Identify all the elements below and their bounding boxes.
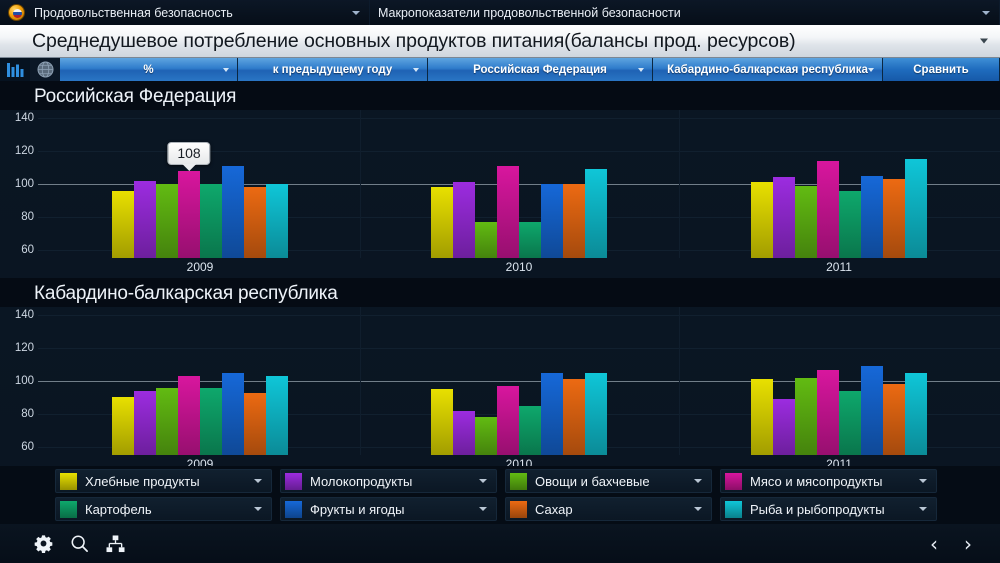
tab-food-security[interactable]: Продовольственная безопасность	[0, 0, 370, 25]
chart-title: Российская Федерация	[0, 81, 1000, 110]
chart-bar[interactable]	[541, 373, 563, 455]
chart-legend: Хлебные продуктыМолокопродуктыОвощи и ба…	[0, 466, 1000, 524]
chart-bar[interactable]	[585, 373, 607, 455]
chart-bar[interactable]	[839, 391, 861, 455]
legend-item-1[interactable]: Молокопродукты	[280, 469, 497, 493]
chart-bar[interactable]	[222, 166, 244, 258]
gridline	[38, 348, 1000, 349]
nav-next-button[interactable]: ›	[964, 534, 972, 554]
chart-bar[interactable]	[817, 161, 839, 258]
chart-bar[interactable]	[475, 417, 497, 455]
filter-unit-label: %	[143, 64, 153, 76]
chart-bar[interactable]	[839, 191, 861, 258]
chart-plot-area[interactable]: 6080100120140108	[0, 110, 1000, 258]
y-axis-tick-label: 80	[0, 211, 34, 223]
chart-bar[interactable]	[541, 184, 563, 258]
app-emblem-icon	[8, 4, 25, 21]
y-axis-tick-label: 80	[0, 408, 34, 420]
chevron-down-icon[interactable]	[694, 479, 702, 483]
chevron-down-icon[interactable]	[982, 11, 990, 15]
legend-color-swatch	[285, 501, 302, 518]
legend-item-label: Картофель	[85, 502, 152, 517]
legend-item-label: Молокопродукты	[310, 474, 412, 489]
y-axis-tick-label: 120	[0, 145, 34, 157]
chevron-down-icon[interactable]	[479, 479, 487, 483]
group-separator	[679, 307, 680, 455]
legend-item-2[interactable]: Овощи и бахчевые	[505, 469, 712, 493]
filter-comparison-label: к предыдущему году	[273, 64, 393, 76]
chevron-down-icon[interactable]	[919, 479, 927, 483]
filter-region-primary[interactable]: Российская Федерация	[428, 58, 653, 81]
chart-panel-kbr: Кабардино-балкарская республика 60801001…	[0, 278, 1000, 475]
filter-unit[interactable]: %	[60, 58, 238, 81]
chart-plot-area[interactable]: 6080100120140	[0, 307, 1000, 455]
chart-bar[interactable]	[563, 184, 585, 258]
chart-bar[interactable]	[861, 176, 883, 258]
legend-item-5[interactable]: Фрукты и ягоды	[280, 497, 497, 521]
chevron-down-icon[interactable]	[694, 507, 702, 511]
chart-bar[interactable]	[773, 399, 795, 455]
tab-label: Макропоказатели продовольственной безопа…	[378, 6, 681, 20]
chart-panel-russia: Российская Федерация 6080100120140108 20…	[0, 81, 1000, 278]
compare-button-label: Сравнить	[913, 64, 969, 76]
chart-bar[interactable]	[134, 181, 156, 258]
chevron-down-icon[interactable]	[254, 479, 262, 483]
legend-color-swatch	[510, 501, 527, 518]
chart-bar[interactable]	[200, 184, 222, 258]
bar-value-tooltip: 108	[167, 142, 210, 165]
chart-bar[interactable]	[861, 366, 883, 455]
chevron-down-icon[interactable]	[919, 507, 927, 511]
filter-region-primary-label: Российская Федерация	[473, 64, 607, 76]
legend-color-swatch	[285, 473, 302, 490]
gridline	[38, 118, 1000, 119]
y-axis-tick-label: 140	[0, 112, 34, 124]
legend-item-label: Фрукты и ягоды	[310, 502, 404, 517]
filter-toolbar: % к предыдущему году Российская Федераци…	[0, 58, 1000, 81]
tab-macro-indicators[interactable]: Макропоказатели продовольственной безопа…	[370, 0, 1000, 25]
legend-color-swatch	[725, 501, 742, 518]
legend-item-label: Мясо и мясопродукты	[750, 474, 883, 489]
chart-bar[interactable]	[773, 177, 795, 258]
chart-bar[interactable]	[751, 182, 773, 258]
chart-title: Кабардино-балкарская республика	[0, 278, 1000, 307]
nav-prev-button[interactable]: ‹	[930, 534, 938, 554]
compare-button[interactable]: Сравнить	[883, 58, 1000, 81]
group-separator	[679, 110, 680, 258]
y-axis-tick-label: 100	[0, 178, 34, 190]
chart-bar[interactable]	[200, 388, 222, 455]
top-tab-bar: Продовольственная безопасность Макропока…	[0, 0, 1000, 25]
group-separator	[360, 110, 361, 258]
bottom-toolbar: ‹ ›	[0, 524, 1000, 563]
x-axis-tick-label: 2011	[826, 260, 852, 274]
chart-bar[interactable]	[244, 187, 266, 258]
chart-bar[interactable]	[751, 379, 773, 455]
chart-bar[interactable]	[431, 187, 453, 258]
legend-item-3[interactable]: Мясо и мясопродукты	[720, 469, 937, 493]
page-title: Среднедушевое потребление основных проду…	[32, 30, 796, 53]
legend-item-label: Сахар	[535, 502, 573, 517]
chart-bar[interactable]	[563, 379, 585, 455]
legend-color-swatch	[510, 473, 527, 490]
filter-comparison-base[interactable]: к предыдущему году	[238, 58, 428, 81]
chart-bar[interactable]	[222, 373, 244, 455]
chart-bar[interactable]	[453, 182, 475, 258]
chart-bar[interactable]	[497, 166, 519, 258]
chevron-down-icon[interactable]	[254, 507, 262, 511]
tab-label: Продовольственная безопасность	[34, 6, 233, 20]
chart-bar[interactable]	[266, 184, 288, 258]
legend-item-0[interactable]: Хлебные продукты	[55, 469, 272, 493]
chart-bar[interactable]	[453, 411, 475, 455]
y-axis-tick-label: 120	[0, 342, 34, 354]
hierarchy-icon[interactable]	[106, 535, 125, 553]
chart-bar[interactable]	[475, 222, 497, 258]
chevron-down-icon[interactable]	[980, 39, 988, 44]
chart-bar[interactable]	[905, 159, 927, 258]
filter-region-secondary-label: Кабардино-балкарская республика	[667, 64, 868, 76]
legend-item-6[interactable]: Сахар	[505, 497, 712, 521]
chart-bar[interactable]	[178, 171, 200, 258]
chevron-down-icon[interactable]	[479, 507, 487, 511]
search-icon[interactable]	[70, 534, 89, 553]
chart-bar[interactable]	[795, 186, 817, 258]
chart-bar[interactable]	[134, 391, 156, 455]
chart-bar[interactable]	[178, 376, 200, 455]
chevron-down-icon[interactable]	[223, 68, 229, 72]
application-window: Продовольственная безопасность Макропока…	[0, 0, 1000, 563]
chart-bar[interactable]	[905, 373, 927, 455]
legend-item-4[interactable]: Картофель	[55, 497, 272, 521]
legend-item-label: Овощи и бахчевые	[535, 474, 650, 489]
chart-bar[interactable]	[497, 386, 519, 455]
chart-bar[interactable]	[519, 222, 541, 258]
chart-bar[interactable]	[585, 169, 607, 258]
legend-color-swatch	[725, 473, 742, 490]
chart-bar[interactable]	[112, 397, 134, 455]
chevron-down-icon[interactable]	[413, 68, 419, 72]
x-axis-tick-label: 2010	[506, 260, 533, 274]
chart-bar[interactable]	[156, 184, 178, 258]
y-axis-tick-label: 60	[0, 244, 34, 256]
gear-icon[interactable]	[34, 534, 53, 553]
filter-region-secondary[interactable]: Кабардино-балкарская республика	[653, 58, 883, 81]
chart-bar[interactable]	[795, 378, 817, 455]
legend-item-label: Хлебные продукты	[85, 474, 200, 489]
y-axis-tick-label: 60	[0, 441, 34, 453]
chevron-down-icon[interactable]	[868, 68, 874, 72]
chart-bar[interactable]	[883, 384, 905, 455]
x-axis-tick-label: 2009	[187, 260, 214, 274]
chart-bar[interactable]	[266, 376, 288, 455]
chevron-down-icon[interactable]	[352, 11, 360, 15]
group-separator	[360, 307, 361, 455]
gridline	[38, 315, 1000, 316]
chart-bar[interactable]	[431, 389, 453, 455]
legend-color-swatch	[60, 501, 77, 518]
chart-bar[interactable]	[156, 388, 178, 455]
chart-bar[interactable]	[244, 393, 266, 455]
legend-item-7[interactable]: Рыба и рыбопродукты	[720, 497, 937, 521]
page-title-bar[interactable]: Среднедушевое потребление основных проду…	[0, 25, 1000, 58]
legend-color-swatch	[60, 473, 77, 490]
y-axis-tick-label: 100	[0, 375, 34, 387]
chart-bar[interactable]	[519, 406, 541, 455]
bar-chart-icon[interactable]	[0, 58, 30, 81]
chart-bar[interactable]	[112, 191, 134, 258]
chart-bar[interactable]	[883, 179, 905, 258]
globe-icon[interactable]	[30, 58, 60, 81]
chart-x-axis: 200920102011	[0, 258, 1000, 278]
chart-bar[interactable]	[817, 370, 839, 456]
legend-item-label: Рыба и рыбопродукты	[750, 502, 885, 517]
y-axis-tick-label: 140	[0, 309, 34, 321]
chevron-down-icon[interactable]	[638, 68, 644, 72]
